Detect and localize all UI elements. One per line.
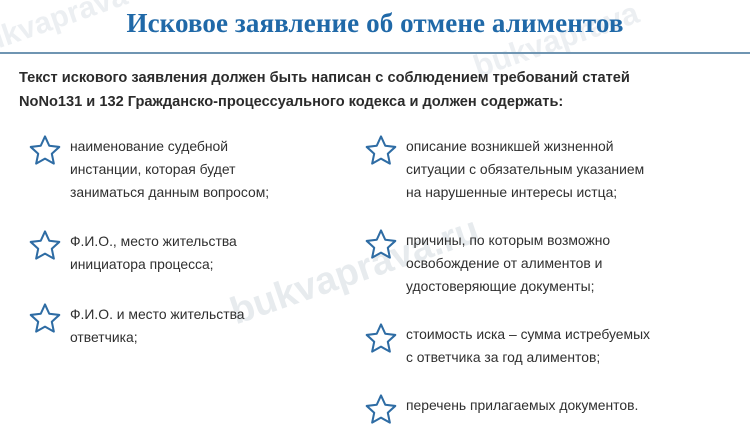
- list-item-line: инстанции, которая будет: [70, 158, 269, 181]
- list-item: стоимость иска – сумма истребуемых с отв…: [364, 320, 744, 369]
- left-column: наименование судебной инстанции, которая…: [28, 132, 348, 349]
- list-item-line: на нарушенные интересы истца;: [406, 181, 644, 204]
- list-item-line: описание возникшей жизненной: [406, 135, 644, 158]
- list-item: описание возникшей жизненной ситуации с …: [364, 132, 744, 204]
- list-item-text: Ф.И.О. и место жительства ответчика;: [70, 300, 245, 349]
- list-item-text: перечень прилагаемых документов.: [406, 391, 638, 417]
- list-item: наименование судебной инстанции, которая…: [28, 132, 348, 204]
- list-item: Ф.И.О., место жительства инициатора проц…: [28, 227, 348, 276]
- list-item-line: освобождение от алиментов и: [406, 252, 610, 275]
- page-title: Исковое заявление об отмене алиментов: [0, 6, 750, 40]
- list-item-line: Ф.И.О., место жительства: [70, 230, 237, 253]
- star-icon: [28, 301, 62, 335]
- list-item-line: удостоверяющие документы;: [406, 275, 610, 298]
- list-item-line: ситуации с обязательным указанием: [406, 158, 644, 181]
- list-item-text: причины, по которым возможно освобождени…: [406, 226, 610, 298]
- list-item-line: Ф.И.О. и место жительства: [70, 303, 245, 326]
- list-item-text: наименование судебной инстанции, которая…: [70, 132, 269, 204]
- right-column: описание возникшей жизненной ситуации с …: [364, 132, 744, 426]
- list-item-line: заниматься данным вопросом;: [70, 181, 269, 204]
- list-item: причины, по которым возможно освобождени…: [364, 226, 744, 298]
- star-icon: [364, 227, 398, 261]
- intro-line-2: NoNo131 и 132 Гражданско-процессуального…: [19, 90, 719, 114]
- list-item-line: наименование судебной: [70, 135, 269, 158]
- list-item-text: описание возникшей жизненной ситуации с …: [406, 132, 644, 204]
- list-item-line: ответчика;: [70, 326, 245, 349]
- header-divider: [0, 52, 750, 54]
- list-item-text: стоимость иска – сумма истребуемых с отв…: [406, 320, 650, 369]
- star-icon: [364, 321, 398, 355]
- list-item-text: Ф.И.О., место жительства инициатора проц…: [70, 227, 237, 276]
- list-item-line: стоимость иска – сумма истребуемых: [406, 323, 650, 346]
- list-item-line: причины, по которым возможно: [406, 229, 610, 252]
- star-icon: [364, 133, 398, 167]
- list-item-line: с ответчика за год алиментов;: [406, 346, 650, 369]
- page-root: ukvaprava bukvaprava bukvaprava.ru Исков…: [0, 0, 750, 427]
- star-icon: [28, 133, 62, 167]
- star-icon: [28, 228, 62, 262]
- intro-paragraph: Текст искового заявления должен быть нап…: [19, 66, 719, 114]
- list-item-line: инициатора процесса;: [70, 253, 237, 276]
- list-item-line: перечень прилагаемых документов.: [406, 394, 638, 417]
- list-item: Ф.И.О. и место жительства ответчика;: [28, 300, 348, 349]
- list-item: перечень прилагаемых документов.: [364, 391, 744, 426]
- star-icon: [364, 392, 398, 426]
- intro-line-1: Текст искового заявления должен быть нап…: [19, 66, 719, 90]
